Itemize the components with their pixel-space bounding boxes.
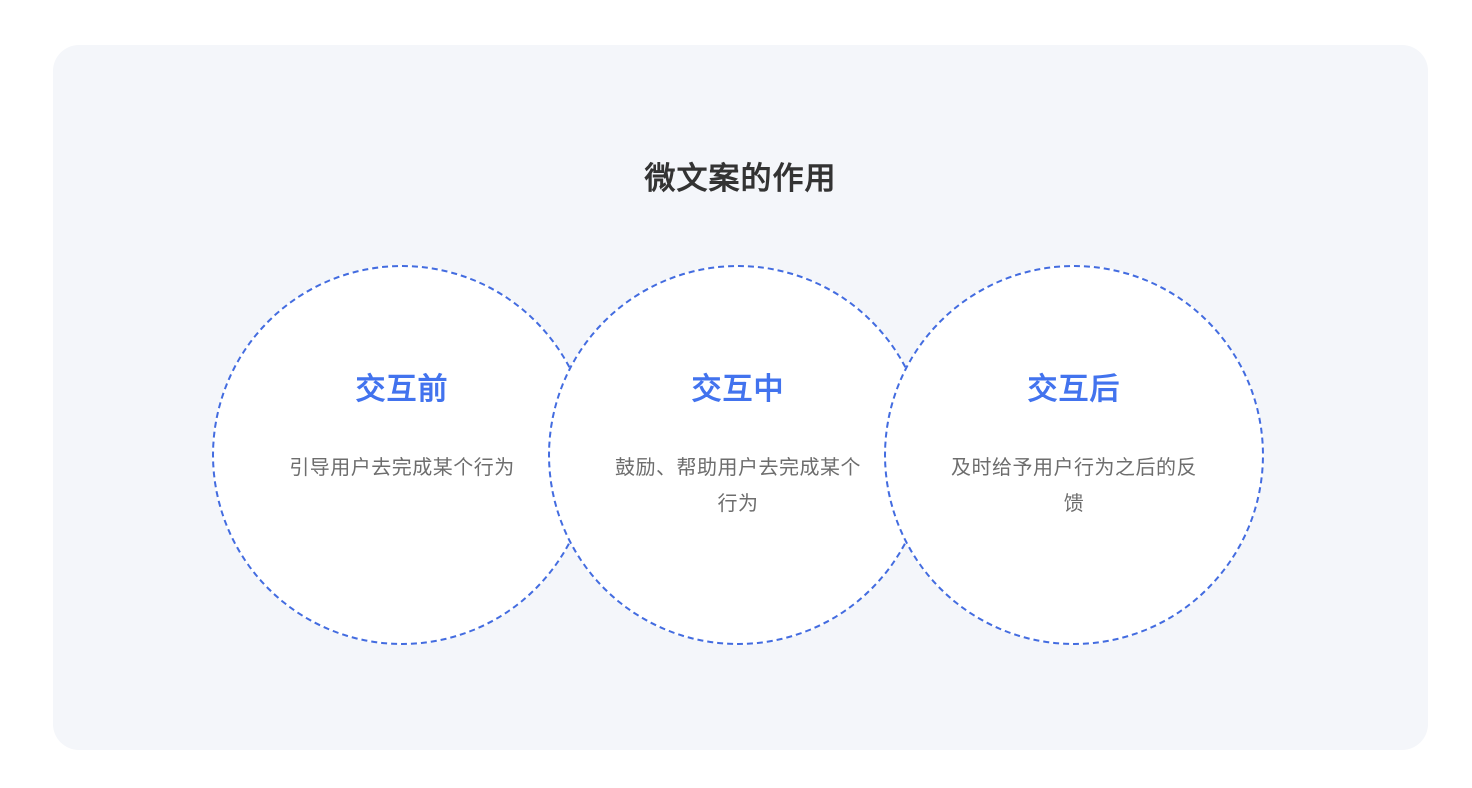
circle-1-description: 引导用户去完成某个行为 [277, 450, 527, 486]
circle-2-description: 鼓励、帮助用户去完成某个行为 [613, 450, 863, 522]
diagram-circle-3[interactable]: 交互后 及时给予用户行为之后的反馈 [884, 265, 1264, 645]
circle-1-content: 交互前 引导用户去完成某个行为 [277, 373, 527, 486]
circle-1-heading: 交互前 [277, 373, 527, 406]
diagram-circle-1[interactable]: 交互前 引导用户去完成某个行为 [212, 265, 592, 645]
circle-2-heading: 交互中 [613, 373, 863, 406]
circle-2-content: 交互中 鼓励、帮助用户去完成某个行为 [613, 373, 863, 522]
circle-3-description: 及时给予用户行为之后的反馈 [949, 450, 1199, 522]
page-canvas: 微文案的作用 交互前 引导用户去完成某个行为 交互中 鼓励、帮助用户去完成某个行… [0, 0, 1472, 788]
circle-3-heading: 交互后 [949, 373, 1199, 406]
circle-3-content: 交互后 及时给予用户行为之后的反馈 [949, 373, 1199, 522]
page-title: 微文案的作用 [53, 163, 1428, 194]
circle-diagram: 交互前 引导用户去完成某个行为 交互中 鼓励、帮助用户去完成某个行为 交互后 及… [212, 265, 1264, 645]
diagram-circle-2[interactable]: 交互中 鼓励、帮助用户去完成某个行为 [548, 265, 928, 645]
content-panel: 微文案的作用 交互前 引导用户去完成某个行为 交互中 鼓励、帮助用户去完成某个行… [53, 45, 1428, 750]
